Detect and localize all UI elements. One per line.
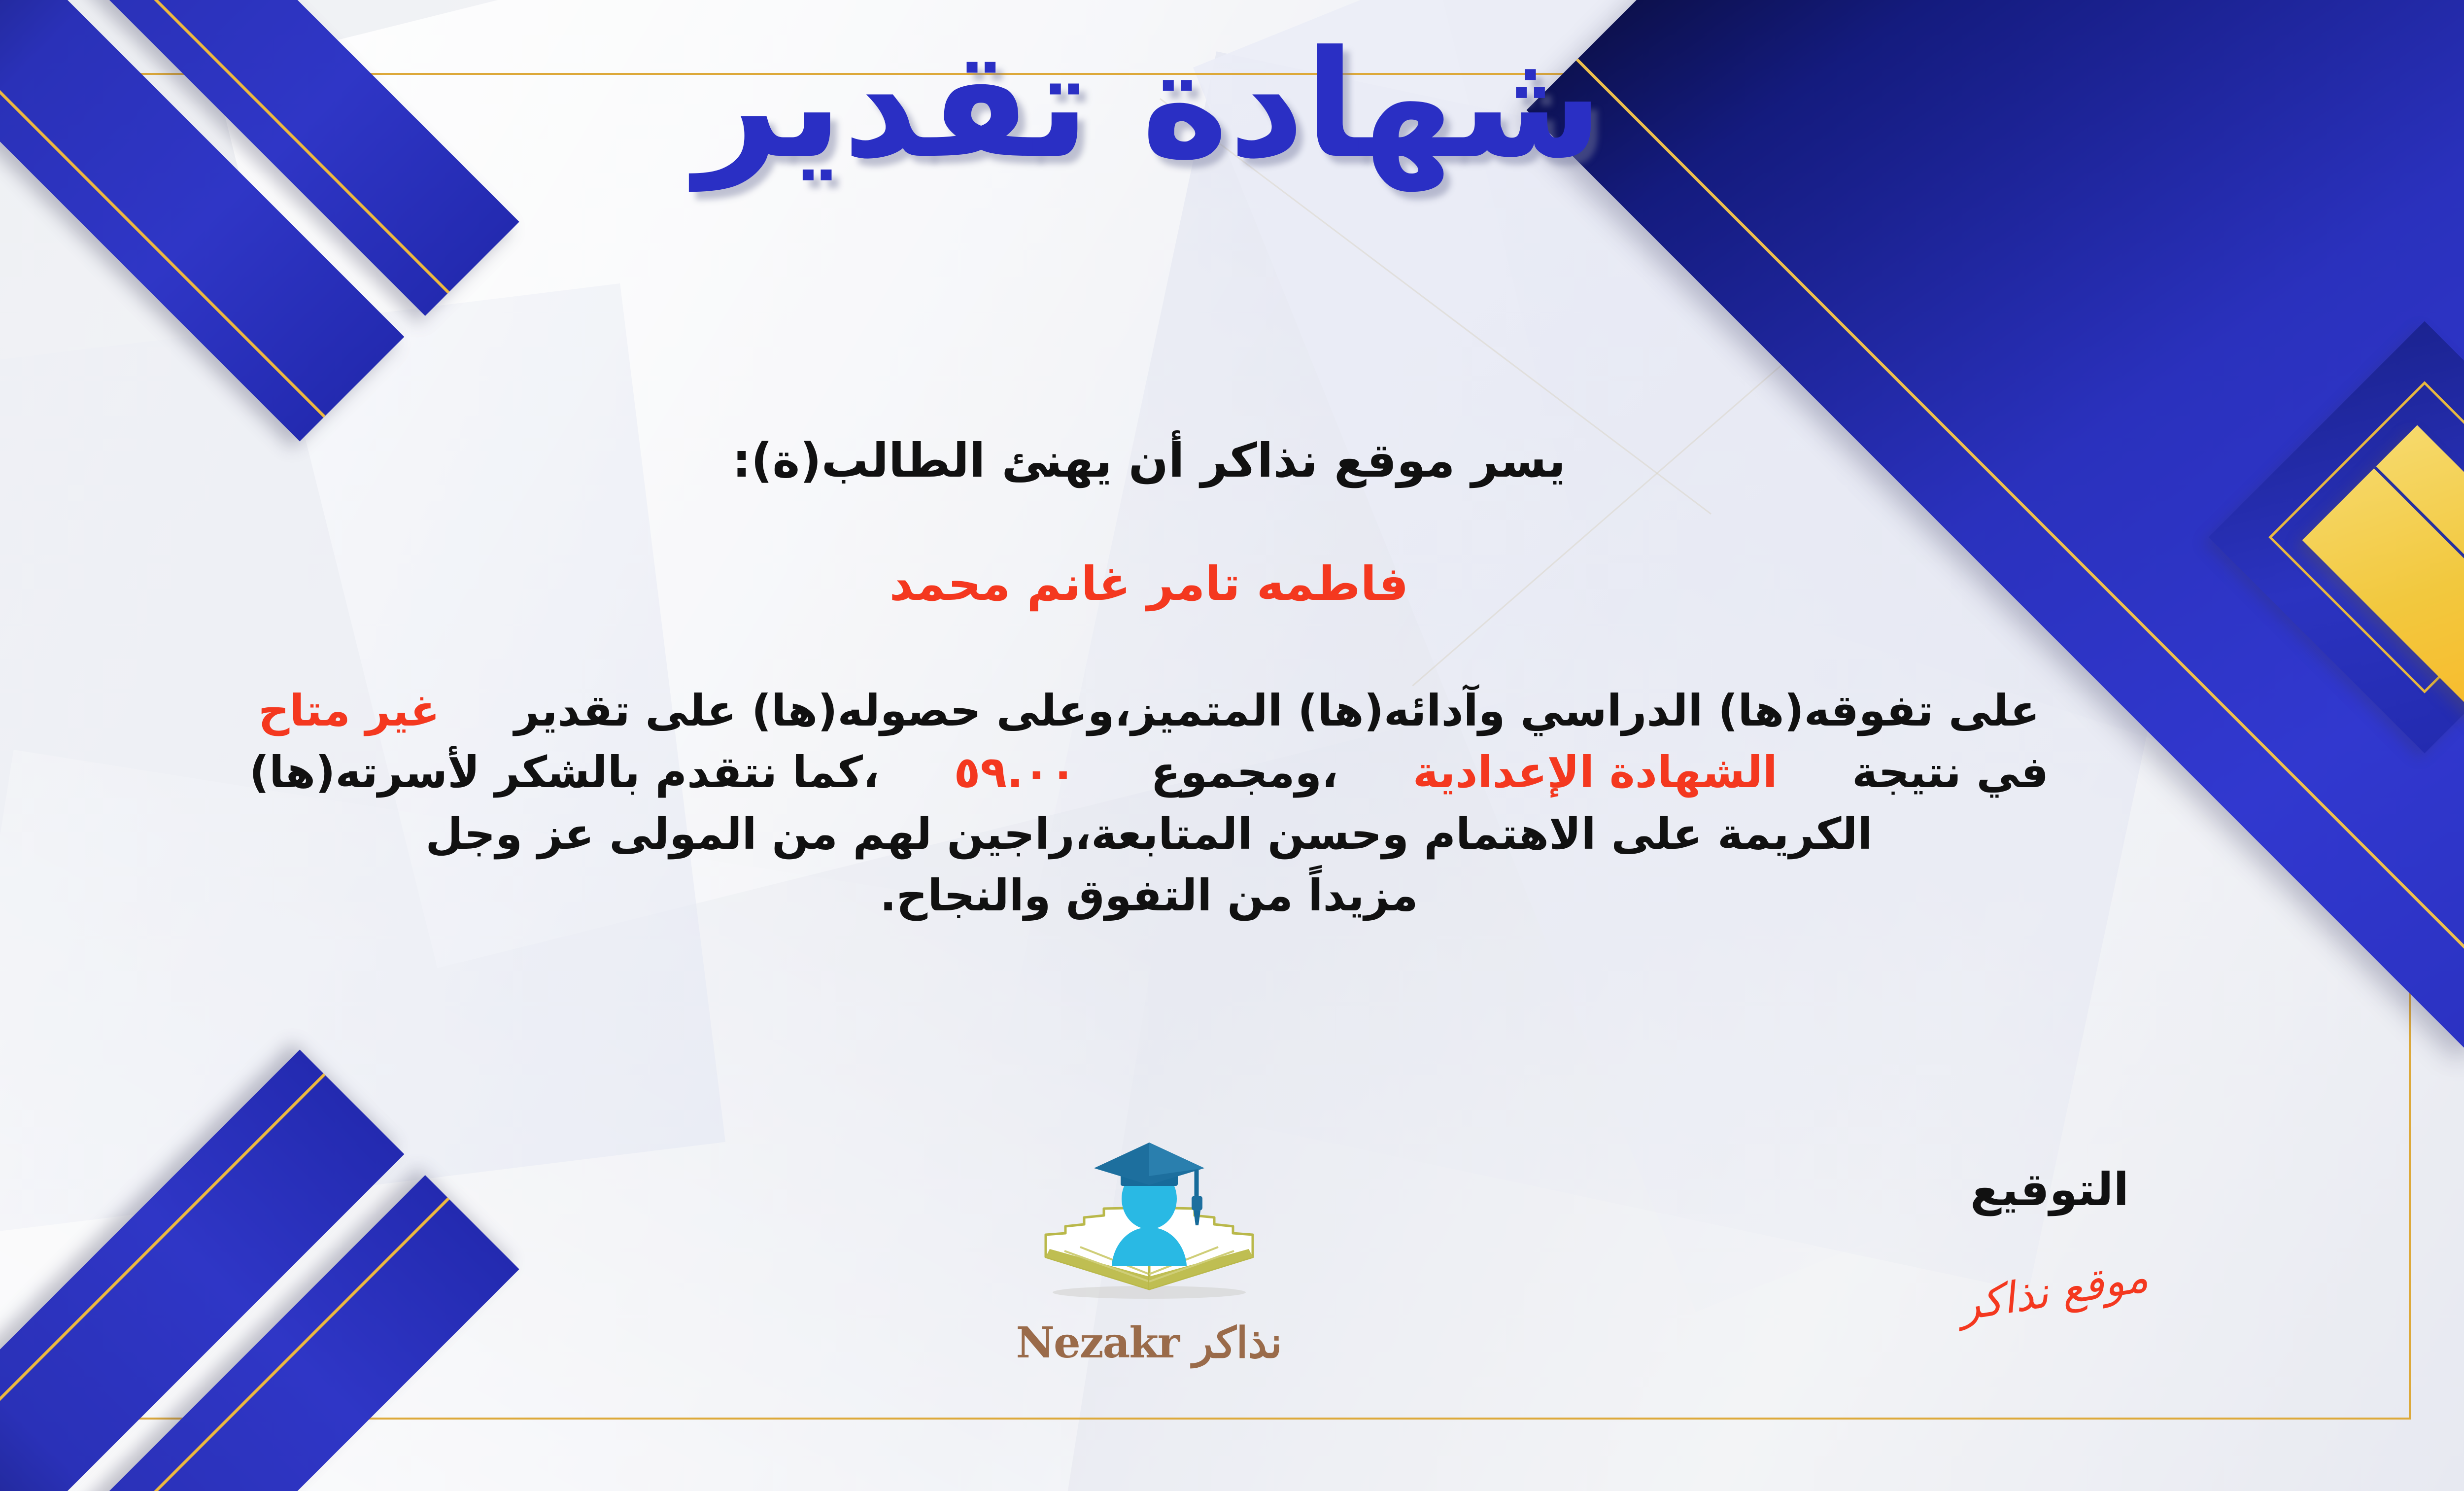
body-line-2: في نتيجة الشهادة الإعدادية ،ومجموع ٥٩.٠٠… — [0, 742, 2375, 803]
certificate-title: شهادة تقدير — [0, 30, 2464, 180]
body-line-2-prefix: في نتيجة — [1852, 747, 2049, 798]
graduate-book-icon — [1011, 1134, 1287, 1321]
student-name: فاطمه تامر غانم محمد — [0, 557, 2464, 611]
body-line-4: مزيداً من التفوق والنجاح. — [0, 865, 2375, 927]
exam-name: الشهادة الإعدادية — [1413, 747, 1778, 798]
body-line-3: الكريمة على الاهتمام وحسن المتابعة،راجين… — [0, 803, 2375, 865]
grade-value: غير متاح — [258, 685, 440, 736]
body-line-1: على تفوقه(ها) الدراسي وآدائه(ها) المتميز… — [0, 680, 2375, 742]
certificate-body: على تفوقه(ها) الدراسي وآدائه(ها) المتميز… — [0, 680, 2375, 927]
nezakr-logo: Nezakr نذاكر — [962, 1134, 1336, 1368]
body-line-1-text: على تفوقه(ها) الدراسي وآدائه(ها) المتميز… — [514, 685, 2040, 736]
certificate-page: شهادة تقدير يسر موقع نذاكر أن يهنئ الطال… — [0, 0, 2464, 1491]
body-line-2-mid: ،ومجموع — [1151, 747, 1338, 798]
logo-wordmark: Nezakr نذاكر — [962, 1318, 1336, 1368]
signature-mark: موقع نذاكر — [1955, 1252, 2151, 1330]
body-line-2-suffix: ،كما نتقدم بالشكر لأسرته(ها) — [249, 747, 880, 798]
score-value: ٥٩.٠٠ — [954, 747, 1076, 798]
intro-line: يسر موقع نذاكر أن يهنئ الطالب(ة): — [0, 434, 2464, 488]
signature-label: التوقيع — [1970, 1163, 2129, 1216]
